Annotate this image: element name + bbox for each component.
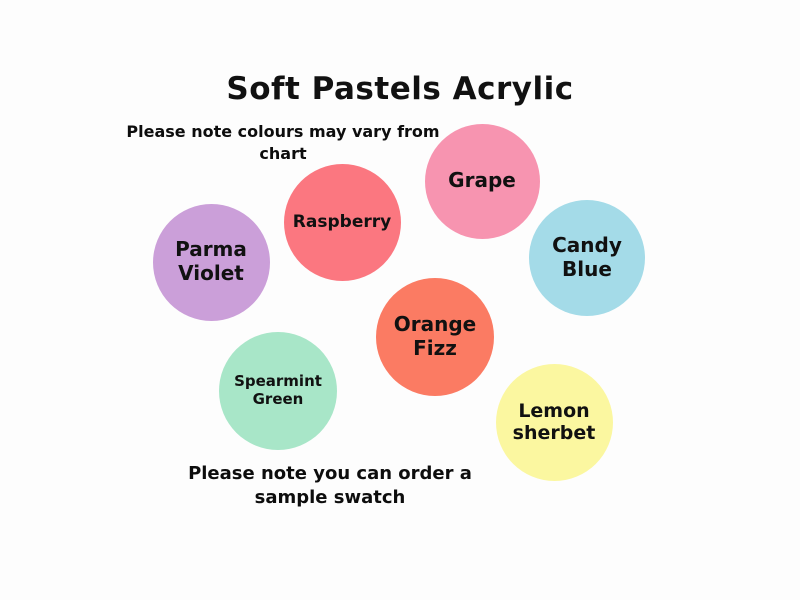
colour-swatch[interactable]: Spearmint Green [219, 332, 337, 450]
colour-swatch-label: Grape [442, 169, 522, 193]
note-colours-may-vary: Please note colours may vary from chart [118, 121, 448, 164]
colour-swatch[interactable]: Raspberry [284, 164, 401, 281]
colour-swatch[interactable]: Parma Violet [153, 204, 270, 321]
page-title: Soft Pastels Acrylic [0, 72, 800, 108]
colour-swatch[interactable]: Candy Blue [529, 200, 645, 316]
colour-swatch[interactable]: Orange Fizz [376, 278, 494, 396]
colour-swatch-label: Orange Fizz [376, 313, 494, 360]
colour-swatch-label: Lemon sherbet [496, 400, 613, 445]
pastel-swatch-chart: Soft Pastels Acrylic Please note colours… [0, 0, 800, 600]
colour-swatch-label: Spearmint Green [219, 373, 337, 408]
colour-swatch-label: Raspberry [287, 212, 397, 232]
colour-swatch-label: Parma Violet [153, 238, 270, 285]
note-sample-swatch: Please note you can order a sample swatc… [150, 462, 510, 511]
colour-swatch[interactable]: Lemon sherbet [496, 364, 613, 481]
colour-swatch-label: Candy Blue [529, 234, 645, 281]
